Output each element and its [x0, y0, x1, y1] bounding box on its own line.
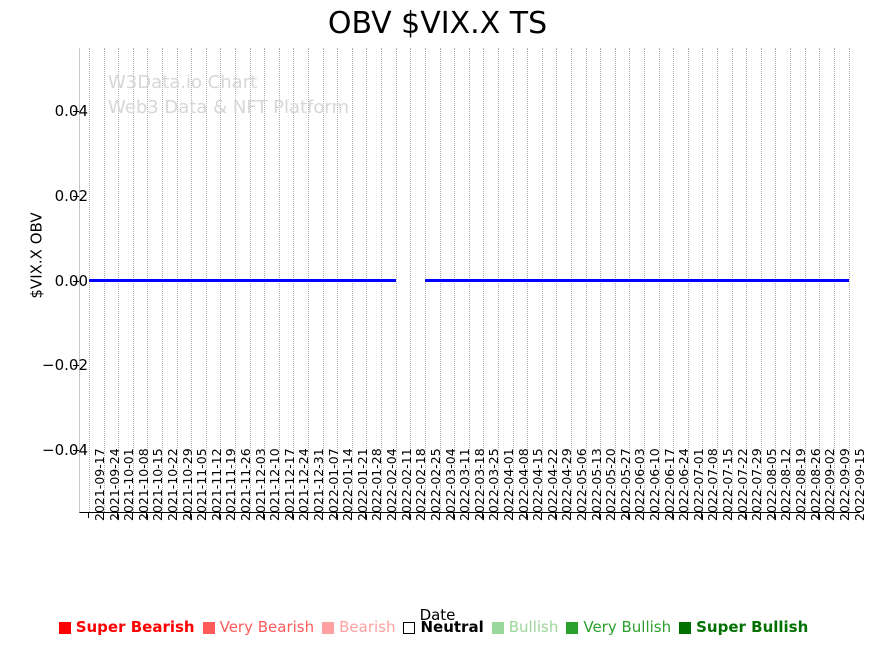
x-axis-tick-label: 2022-06-24	[677, 448, 690, 521]
legend-item-very-bearish[interactable]: Very Bearish	[203, 620, 323, 635]
legend-label: Bearish	[339, 620, 395, 635]
x-axis-tick-mark	[176, 513, 177, 518]
legend-swatch-icon	[566, 622, 578, 634]
x-axis-tick-mark	[804, 513, 805, 518]
x-axis-tick-mark	[307, 513, 308, 518]
x-axis-tick-label: 2021-10-29	[181, 448, 194, 521]
legend-item-bearish[interactable]: Bearish	[322, 620, 403, 635]
x-axis-tick-mark	[658, 513, 659, 518]
x-axis-tick-mark	[760, 513, 761, 518]
x-axis-tick-mark	[380, 513, 381, 518]
x-axis-tick-mark	[555, 513, 556, 518]
x-axis-tick-label: 2022-07-01	[692, 448, 705, 521]
x-axis-tick-mark	[322, 513, 323, 518]
x-axis-tick-label: 2021-10-22	[166, 448, 179, 521]
x-axis-tick-label: 2022-04-29	[560, 448, 573, 521]
x-axis-tick-label: 2022-05-13	[590, 448, 603, 521]
x-axis-tick-label: 2022-04-01	[502, 448, 515, 521]
x-axis-tick-label: 2021-09-17	[93, 448, 106, 521]
x-axis-tick-label: 2022-08-12	[779, 448, 792, 521]
x-axis-tick-label: 2021-10-08	[137, 448, 150, 521]
x-axis-tick-mark	[424, 513, 425, 518]
x-axis-tick-mark	[570, 513, 571, 518]
x-axis-tick-label: 2022-04-15	[531, 448, 544, 521]
x-axis-tick-label: 2022-05-20	[604, 448, 617, 521]
x-axis-tick-label: 2022-08-05	[765, 448, 778, 521]
x-axis-tick-mark	[643, 513, 644, 518]
x-axis-tick-label: 2022-09-15	[853, 448, 866, 521]
x-axis-tick-mark	[351, 513, 352, 518]
x-axis-tick-label: 2022-07-29	[750, 448, 763, 521]
x-axis-tick-label: 2022-07-15	[721, 448, 734, 521]
legend-item-super-bullish[interactable]: Super Bullish	[679, 620, 816, 635]
x-axis-tick-label: 2022-03-11	[458, 448, 471, 521]
x-axis-tick-label: 2021-11-12	[210, 448, 223, 521]
x-axis-tick-label: 2022-05-27	[619, 448, 632, 521]
x-axis-tick-label: 2022-02-11	[400, 448, 413, 521]
x-axis-tick-mark	[672, 513, 673, 518]
x-axis-tick-label: 2022-01-21	[356, 448, 369, 521]
x-axis-tick-mark	[278, 513, 279, 518]
x-axis-tick-mark	[687, 513, 688, 518]
chart-figure: OBV $VIX.X TS 2022-09-15 $VIX.X OBV: 0.0…	[0, 0, 875, 646]
x-axis-tick-label: 2022-01-28	[370, 448, 383, 521]
x-axis-tick-label: 2021-12-10	[268, 448, 281, 521]
legend-label: Super Bearish	[76, 620, 195, 635]
x-axis-tick-label: 2022-01-14	[341, 448, 354, 521]
x-axis-tick-mark	[190, 513, 191, 518]
x-axis-tick-mark	[745, 513, 746, 518]
x-axis-tick-mark	[249, 513, 250, 518]
legend-item-neutral[interactable]: Neutral	[403, 620, 491, 635]
legend-label: Very Bearish	[220, 620, 315, 635]
chart-legend: Super BearishVery BearishBearishNeutralB…	[0, 620, 875, 635]
legend-swatch-icon	[679, 622, 691, 634]
x-axis-tick-label: 2022-04-08	[517, 448, 530, 521]
x-axis-tick-label: 2021-10-01	[122, 448, 135, 521]
x-axis-tick-label: 2022-08-19	[794, 448, 807, 521]
x-axis-tick-mark	[219, 513, 220, 518]
gridline-vertical	[396, 48, 397, 512]
x-axis-tick-mark	[526, 513, 527, 518]
x-axis-tick-mark	[468, 513, 469, 518]
x-axis-tick-mark	[628, 513, 629, 518]
x-axis-tick-mark	[453, 513, 454, 518]
x-axis-tick-label: 2021-09-24	[108, 448, 121, 521]
y-axis-label: $VIX.X OBV	[30, 156, 45, 356]
x-axis-tick-label: 2022-06-10	[648, 448, 661, 521]
legend-swatch-icon	[59, 622, 71, 634]
y-axis-tick-label: −0.02	[0, 358, 88, 373]
x-axis-tick-label: 2022-03-04	[444, 448, 457, 521]
x-axis-tick-label: 2022-08-26	[809, 448, 822, 521]
x-axis-tick-mark	[409, 513, 410, 518]
x-axis-tick-mark	[146, 513, 147, 518]
x-axis-tick-label: 2022-09-02	[823, 448, 836, 521]
legend-swatch-icon	[492, 622, 504, 634]
legend-swatch-icon	[203, 622, 215, 634]
obv-line-segment	[89, 279, 396, 282]
x-axis-tick-label: 2022-06-17	[663, 448, 676, 521]
x-axis-tick-mark	[88, 513, 89, 518]
x-axis-tick-mark	[701, 513, 702, 518]
x-axis-tick-mark	[161, 513, 162, 518]
x-axis-tick-mark	[848, 513, 849, 518]
x-axis-tick-label: 2021-12-17	[283, 448, 296, 521]
x-axis-tick-label: 2021-10-15	[151, 448, 164, 521]
x-axis-tick-label: 2021-12-31	[312, 448, 325, 521]
x-axis-tick-mark	[497, 513, 498, 518]
x-axis-tick-label: 2021-11-19	[224, 448, 237, 521]
x-axis-tick-label: 2022-02-25	[429, 448, 442, 521]
x-axis-tick-label: 2022-06-03	[633, 448, 646, 521]
x-axis-tick-mark	[292, 513, 293, 518]
chart-title: OBV $VIX.X TS	[0, 6, 875, 42]
x-axis-tick-mark	[541, 513, 542, 518]
x-axis-tick-label: 2022-02-04	[385, 448, 398, 521]
x-axis-tick-mark	[585, 513, 586, 518]
legend-item-very-bullish[interactable]: Very Bullish	[566, 620, 679, 635]
gridline-vertical	[410, 48, 411, 512]
x-axis-tick-label: 2021-11-05	[195, 448, 208, 521]
x-axis-tick-mark	[132, 513, 133, 518]
x-axis-tick-mark	[789, 513, 790, 518]
x-axis-tick-mark	[395, 513, 396, 518]
x-axis-tick-label: 2022-07-08	[706, 448, 719, 521]
x-axis-tick-mark	[117, 513, 118, 518]
legend-swatch-icon	[322, 622, 334, 634]
x-axis-tick-label: 2021-11-26	[239, 448, 252, 521]
gridline-vertical	[849, 48, 850, 512]
legend-label: Very Bullish	[583, 620, 671, 635]
x-axis-tick-label: 2022-07-22	[736, 448, 749, 521]
x-axis-tick-mark	[234, 513, 235, 518]
y-axis-tick-label: 0.04	[0, 104, 88, 119]
y-axis-tick-label: −0.04	[0, 443, 88, 458]
x-axis-tick-label: 2022-03-18	[473, 448, 486, 521]
obv-line-segment	[425, 279, 849, 282]
x-axis-tick-mark	[439, 513, 440, 518]
x-axis-tick-label: 2022-09-09	[838, 448, 851, 521]
x-axis-tick-label: 2022-02-18	[414, 448, 427, 521]
legend-label: Super Bullish	[696, 620, 808, 635]
legend-item-bullish[interactable]: Bullish	[492, 620, 567, 635]
legend-item-super-bearish[interactable]: Super Bearish	[59, 620, 203, 635]
x-axis-tick-label: 2021-12-24	[297, 448, 310, 521]
x-axis-tick-label: 2022-04-22	[546, 448, 559, 521]
x-axis-tick-label: 2021-12-03	[254, 448, 267, 521]
x-axis-tick-mark	[482, 513, 483, 518]
x-axis-tick-mark	[774, 513, 775, 518]
legend-label: Bullish	[509, 620, 559, 635]
x-axis-tick-mark	[731, 513, 732, 518]
x-axis-tick-label: 2022-01-07	[327, 448, 340, 521]
plot-area: W3Data.io Chart Web3 Data & NFT Platform	[79, 48, 860, 513]
x-axis-tick-mark	[614, 513, 615, 518]
x-axis-tick-mark	[716, 513, 717, 518]
x-axis-tick-mark	[833, 513, 834, 518]
x-axis-tick-label: 2022-05-06	[575, 448, 588, 521]
x-axis-tick-mark	[205, 513, 206, 518]
x-axis-tick-mark	[103, 513, 104, 518]
x-axis-tick-mark	[512, 513, 513, 518]
x-axis-tick-mark	[365, 513, 366, 518]
x-axis-tick-mark	[599, 513, 600, 518]
legend-label: Neutral	[420, 620, 483, 635]
legend-swatch-icon	[403, 622, 415, 634]
x-axis-tick-mark	[818, 513, 819, 518]
x-axis-tick-mark	[336, 513, 337, 518]
x-axis-tick-label: 2022-03-25	[487, 448, 500, 521]
x-axis-tick-mark	[263, 513, 264, 518]
